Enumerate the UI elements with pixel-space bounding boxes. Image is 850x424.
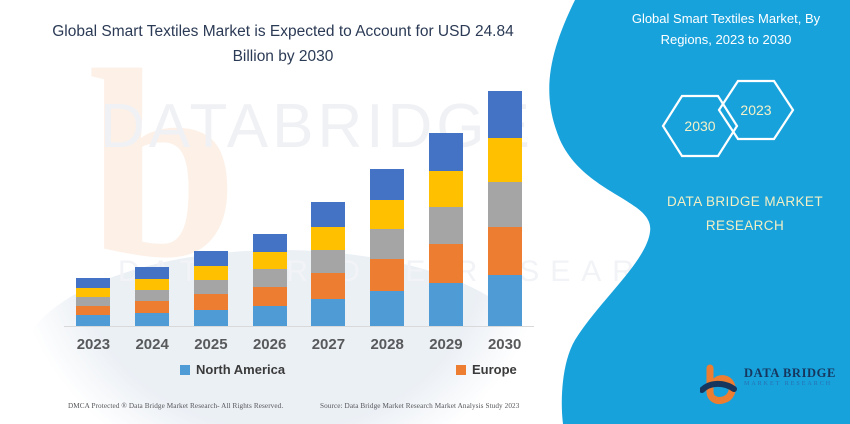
- infographic-canvas: b DATABRIDGE DATA BRIDGE RESEARCH Global…: [0, 0, 850, 424]
- bar-2030[interactable]: [488, 91, 522, 326]
- segment-europe[interactable]: [253, 287, 287, 306]
- brand-line-2: RESEARCH: [706, 218, 784, 233]
- segment-asia-pacific[interactable]: [370, 229, 404, 259]
- bar-2028[interactable]: [370, 169, 404, 326]
- segment-north-america[interactable]: [311, 299, 345, 326]
- segment-asia-pacific[interactable]: [253, 269, 287, 287]
- segment-middle-east-and-africa[interactable]: [194, 251, 228, 266]
- chart-legend: North AmericaEurope: [64, 362, 534, 384]
- hexagon-label-2030: 2030: [670, 118, 730, 134]
- segment-south-america[interactable]: [488, 138, 522, 182]
- bar-2024[interactable]: [135, 267, 169, 326]
- brand-name: DATA BRIDGE MARKET RESEARCH: [640, 190, 850, 237]
- legend-label: Europe: [472, 362, 517, 377]
- legend-swatch-icon: [456, 365, 466, 375]
- x-label-2028: 2028: [357, 336, 417, 353]
- x-label-2026: 2026: [240, 336, 300, 353]
- brand-line-1: DATA BRIDGE MARKET: [667, 194, 823, 209]
- segment-south-america[interactable]: [194, 266, 228, 280]
- x-label-2025: 2025: [181, 336, 241, 353]
- segment-north-america[interactable]: [488, 275, 522, 326]
- x-label-2023: 2023: [63, 336, 123, 353]
- segment-north-america[interactable]: [194, 310, 228, 326]
- segment-middle-east-and-africa[interactable]: [311, 202, 345, 226]
- logo-mark-icon: [700, 362, 744, 406]
- legend-item-north-america[interactable]: North America: [180, 362, 285, 377]
- segment-north-america[interactable]: [76, 315, 110, 326]
- segment-south-america[interactable]: [311, 227, 345, 250]
- segment-asia-pacific[interactable]: [311, 250, 345, 274]
- segment-middle-east-and-africa[interactable]: [253, 234, 287, 252]
- segment-north-america[interactable]: [135, 313, 169, 326]
- segment-asia-pacific[interactable]: [488, 182, 522, 227]
- segment-europe[interactable]: [370, 259, 404, 291]
- bar-2023[interactable]: [76, 278, 110, 326]
- segment-middle-east-and-africa[interactable]: [370, 169, 404, 200]
- segment-asia-pacific[interactable]: [194, 280, 228, 295]
- segment-middle-east-and-africa[interactable]: [135, 267, 169, 279]
- segment-europe[interactable]: [429, 244, 463, 283]
- hexagon-label-2023: 2023: [726, 102, 786, 118]
- legend-item-europe[interactable]: Europe: [456, 362, 517, 377]
- bar-2027[interactable]: [311, 202, 345, 326]
- footer-source: Source: Data Bridge Market Research Mark…: [320, 402, 519, 410]
- x-axis-line: [64, 326, 534, 327]
- segment-south-america[interactable]: [135, 279, 169, 290]
- segment-south-america[interactable]: [76, 288, 110, 297]
- data-bridge-logo: DATA BRIDGE MARKET RESEARCH: [700, 362, 840, 408]
- footer-copyright: DMCA Protected ® Data Bridge Market Rese…: [68, 402, 283, 410]
- segment-north-america[interactable]: [253, 306, 287, 326]
- segment-south-america[interactable]: [253, 252, 287, 269]
- x-label-2027: 2027: [298, 336, 358, 353]
- hexagon-badges: 2030 2023: [645, 78, 845, 170]
- x-label-2030: 2030: [475, 336, 535, 353]
- segment-asia-pacific[interactable]: [76, 297, 110, 306]
- legend-label: North America: [196, 362, 285, 377]
- x-label-2029: 2029: [416, 336, 476, 353]
- x-label-2024: 2024: [122, 336, 182, 353]
- bar-2026[interactable]: [253, 234, 287, 326]
- segment-north-america[interactable]: [429, 283, 463, 326]
- segment-europe[interactable]: [311, 273, 345, 298]
- segment-asia-pacific[interactable]: [429, 207, 463, 244]
- segment-europe[interactable]: [194, 294, 228, 309]
- segment-europe[interactable]: [488, 227, 522, 275]
- x-axis-labels: 20232024202520262027202820292030: [64, 336, 534, 360]
- legend-swatch-icon: [180, 365, 190, 375]
- bar-2029[interactable]: [429, 133, 463, 326]
- segment-south-america[interactable]: [429, 171, 463, 207]
- logo-wordmark: DATA BRIDGE: [744, 366, 840, 381]
- segment-europe[interactable]: [135, 301, 169, 313]
- stacked-bar-chart: [64, 88, 534, 326]
- segment-asia-pacific[interactable]: [135, 290, 169, 301]
- logo-tagline: MARKET RESEARCH: [744, 381, 844, 387]
- bar-2025[interactable]: [194, 251, 228, 326]
- segment-middle-east-and-africa[interactable]: [76, 278, 110, 288]
- page-title: Global Smart Textiles Market is Expected…: [48, 20, 518, 70]
- segment-middle-east-and-africa[interactable]: [429, 133, 463, 171]
- segment-middle-east-and-africa[interactable]: [488, 91, 522, 139]
- segment-south-america[interactable]: [370, 200, 404, 229]
- panel-title: Global Smart Textiles Market, By Regions…: [610, 8, 842, 51]
- segment-north-america[interactable]: [370, 291, 404, 326]
- segment-europe[interactable]: [76, 306, 110, 316]
